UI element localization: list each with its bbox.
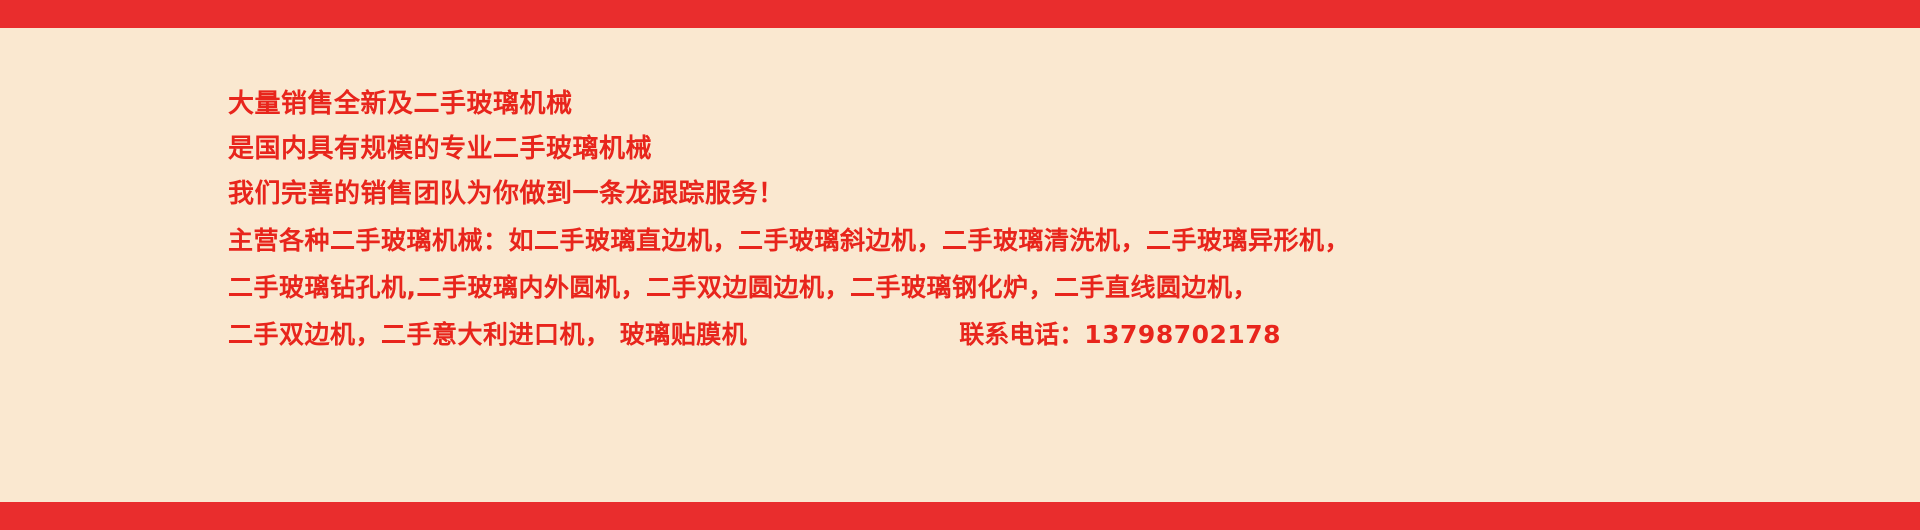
- headline-line-1: 大量销售全新及二手玻璃机械: [228, 82, 1920, 127]
- promo-banner: 大量销售全新及二手玻璃机械 是国内具有规模的专业二手玻璃机械 我们完善的销售团队…: [0, 0, 1920, 530]
- banner-content: 大量销售全新及二手玻璃机械 是国内具有规模的专业二手玻璃机械 我们完善的销售团队…: [0, 28, 1920, 502]
- product-list-line-1: 主营各种二手玻璃机械：如二手玻璃直边机，二手玻璃斜边机，二手玻璃清洗机，二手玻璃…: [228, 217, 1920, 264]
- headline-line-3: 我们完善的销售团队为你做到一条龙跟踪服务！: [228, 172, 1920, 217]
- product-list-line-3: 二手双边机，二手意大利进口机， 玻璃贴膜机: [228, 311, 747, 358]
- contact-phone-label: 联系电话：: [959, 311, 1084, 358]
- product-list-line-2: 二手玻璃钻孔机,二手玻璃内外圆机，二手双边圆边机，二手玻璃钢化炉，二手直线圆边机…: [228, 264, 1920, 311]
- last-line-and-contact-row: 二手双边机，二手意大利进口机， 玻璃贴膜机 联系电话： 13798702178: [228, 311, 1920, 358]
- bottom-accent-bar: [0, 502, 1920, 530]
- top-accent-bar: [0, 0, 1920, 28]
- headline-line-2: 是国内具有规模的专业二手玻璃机械: [228, 127, 1920, 172]
- contact-phone-number[interactable]: 13798702178: [1084, 311, 1281, 358]
